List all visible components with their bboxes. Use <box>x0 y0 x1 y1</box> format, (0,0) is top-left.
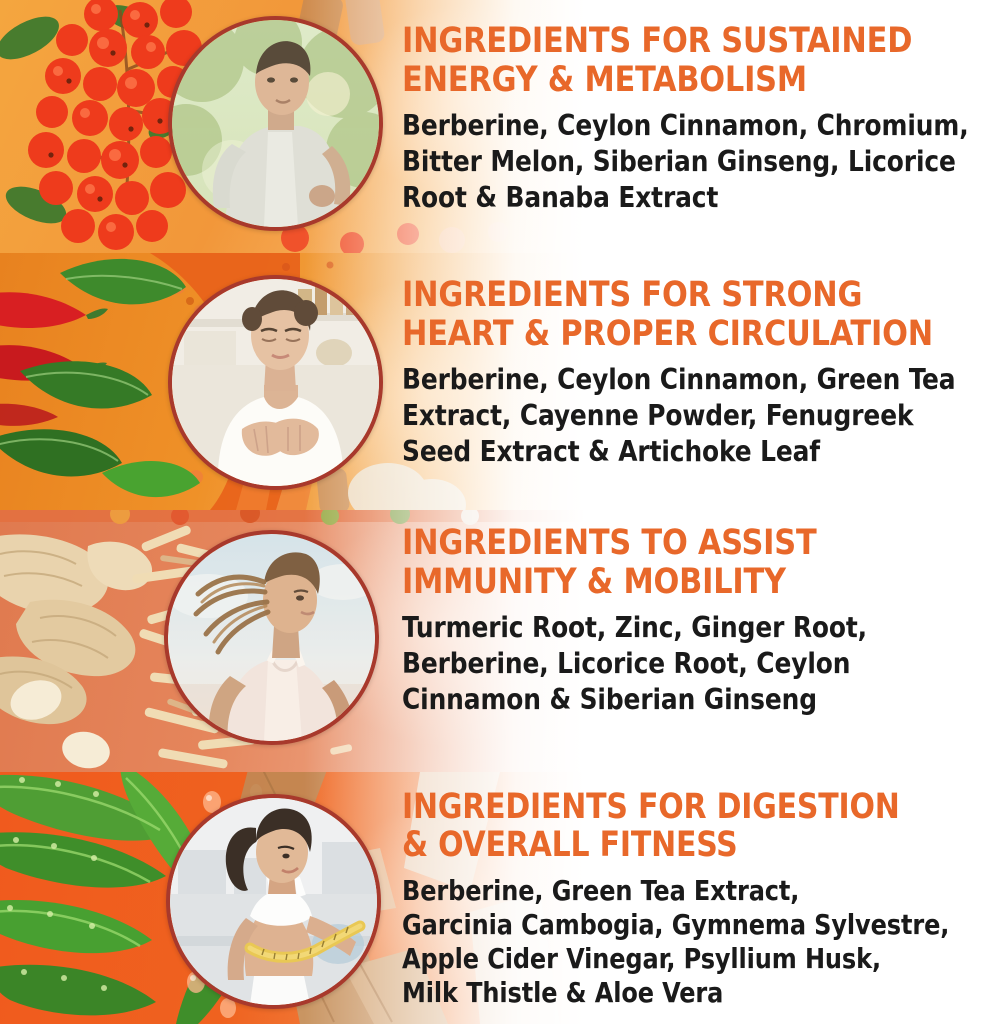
jogging-woman-portrait <box>168 534 375 741</box>
panel-3-copy: INGREDIENTS TO ASSIST IMMUNITY & MOBILIT… <box>402 524 991 719</box>
panel-digestion-overall-fitness: INGREDIENTS FOR DIGESTION & OVERALL FITN… <box>0 772 1001 1024</box>
panel-1-heading: INGREDIENTS FOR SUSTAINED ENERGY & METAB… <box>402 22 970 99</box>
panel-2-heading: INGREDIENTS FOR STRONG HEART & PROPER CI… <box>402 276 970 353</box>
panel-3-portrait-medallion <box>164 530 379 745</box>
running-man-image <box>172 20 379 227</box>
panel-strong-heart-circulation: INGREDIENTS FOR STRONG HEART & PROPER CI… <box>0 253 1001 510</box>
panel-sustained-energy-metabolism: INGREDIENTS FOR SUSTAINED ENERGY & METAB… <box>0 0 1001 253</box>
woman-hands-on-heart-image <box>172 279 379 486</box>
running-man-portrait <box>172 20 379 227</box>
panel-2-ingredients: Berberine, Ceylon Cinnamon, Green Tea Ex… <box>402 362 973 471</box>
panel-3-ingredients: Turmeric Root, Zinc, Ginger Root, Berber… <box>402 610 973 719</box>
waist-measuring-woman-image <box>170 798 377 1005</box>
panel-3-heading: INGREDIENTS TO ASSIST IMMUNITY & MOBILIT… <box>402 524 970 601</box>
infographic-sheet: INGREDIENTS FOR SUSTAINED ENERGY & METAB… <box>0 0 1001 1024</box>
woman-hands-on-heart-portrait <box>172 279 379 486</box>
jogging-woman-image <box>168 534 375 741</box>
panel-2-copy: INGREDIENTS FOR STRONG HEART & PROPER CI… <box>402 276 991 471</box>
panel-4-ingredients: Berberine, Green Tea Extract, Garcinia C… <box>402 874 973 1010</box>
panel-1-portrait-medallion <box>168 16 383 231</box>
panel-1-copy: INGREDIENTS FOR SUSTAINED ENERGY & METAB… <box>402 22 991 217</box>
panel-1-ingredients: Berberine, Ceylon Cinnamon, Chromium, Bi… <box>402 108 973 217</box>
waist-measuring-woman-portrait <box>170 798 377 1005</box>
panel-4-copy: INGREDIENTS FOR DIGESTION & OVERALL FITN… <box>402 789 991 1010</box>
panel-2-portrait-medallion <box>168 275 383 490</box>
panel-4-heading: INGREDIENTS FOR DIGESTION & OVERALL FITN… <box>402 789 970 865</box>
panel-4-portrait-medallion <box>166 794 381 1009</box>
panel-immunity-mobility: INGREDIENTS TO ASSIST IMMUNITY & MOBILIT… <box>0 510 1001 772</box>
